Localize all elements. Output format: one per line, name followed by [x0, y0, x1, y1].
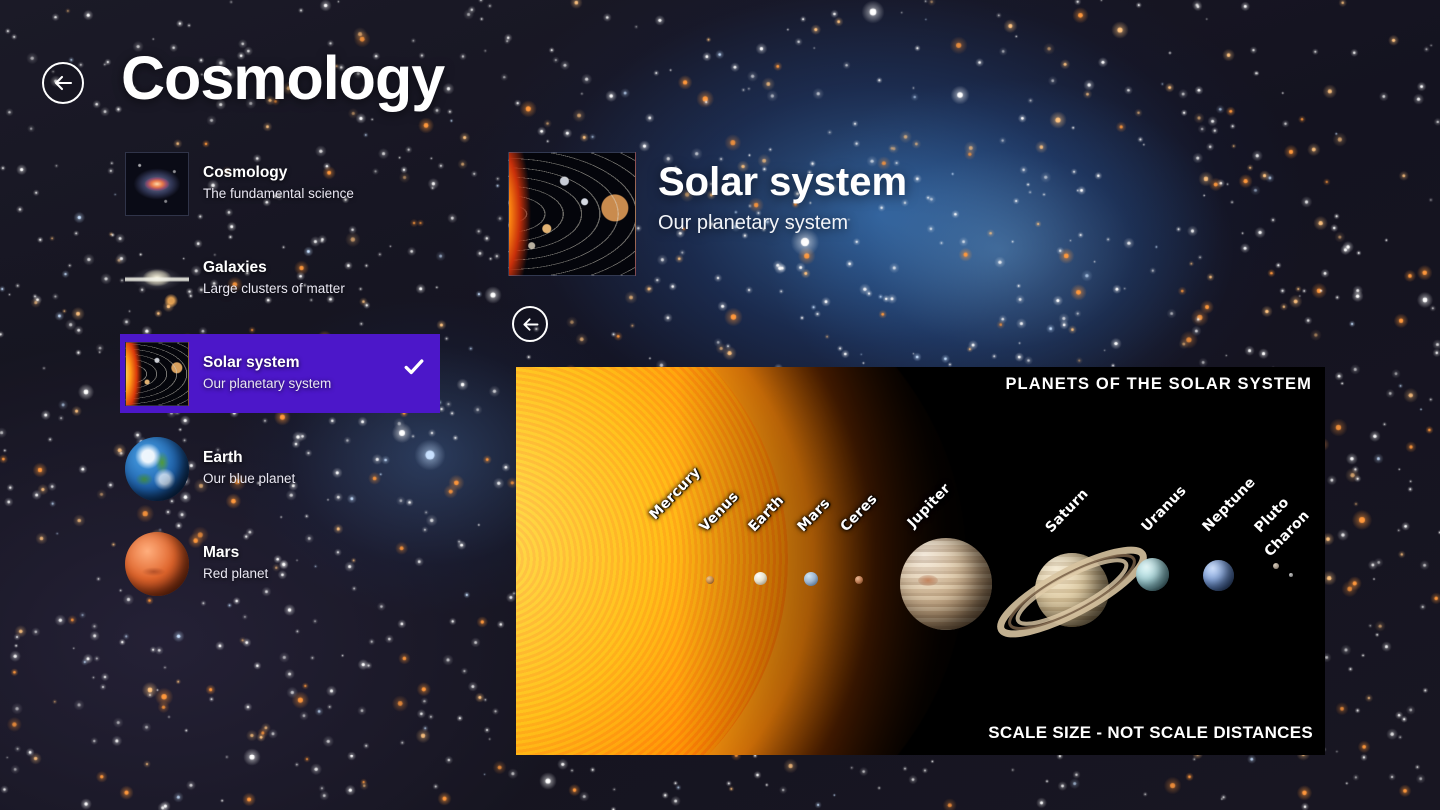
- detail-title: Solar system: [658, 160, 907, 204]
- list-item-title: Cosmology: [203, 163, 354, 184]
- list-item-subtitle: Large clusters of matter: [203, 279, 345, 299]
- earth-thumb: [125, 437, 189, 501]
- back-button[interactable]: [42, 62, 84, 104]
- list-item-title: Mars: [203, 543, 268, 564]
- arrow-left-icon: [51, 71, 75, 95]
- list-item-title: Earth: [203, 448, 295, 469]
- page-title: Cosmology: [121, 48, 444, 109]
- arrow-left-icon: [520, 314, 541, 335]
- list-item-galaxies[interactable]: Galaxies Large clusters of matter: [120, 239, 440, 318]
- list-item-subtitle: Our blue planet: [203, 469, 295, 489]
- planet-uranus: [1136, 558, 1169, 591]
- list-item-subtitle: The fundamental science: [203, 184, 354, 204]
- figure-caption-bottom: SCALE SIZE - NOT SCALE DISTANCES: [988, 723, 1313, 743]
- list-item-title: Solar system: [203, 353, 331, 374]
- list-item-cosmology[interactable]: Cosmology The fundamental science: [120, 144, 440, 223]
- jupiter-great-red-spot: [918, 575, 938, 586]
- detail-back-button[interactable]: [512, 306, 548, 342]
- figure-caption-top: PLANETS OF THE SOLAR SYSTEM: [1005, 375, 1312, 394]
- moon-charon: [1289, 573, 1293, 577]
- list-item-solar-system[interactable]: Solar system Our planetary system: [120, 334, 440, 413]
- mars-thumb: [125, 532, 189, 596]
- planets-figure[interactable]: Mercury Venus Earth Mars Ceres Jupiter S…: [516, 367, 1325, 755]
- galaxy-sombrero-thumb: [125, 247, 189, 311]
- planet-venus: [754, 572, 767, 585]
- planet-mars: [855, 576, 863, 584]
- list-item-mars[interactable]: Mars Red planet: [120, 524, 440, 603]
- solar-system-thumb: [508, 152, 636, 276]
- list-item-subtitle: Red planet: [203, 564, 268, 584]
- dwarf-planet-pluto: [1273, 563, 1279, 569]
- planet-earth: [804, 572, 818, 586]
- solar-system-thumb: [125, 342, 189, 406]
- check-icon: [403, 356, 425, 378]
- planet-mercury: [706, 576, 714, 584]
- galaxy-spiral-thumb: [125, 152, 189, 216]
- list-item-subtitle: Our planetary system: [203, 374, 331, 394]
- planet-jupiter: [900, 538, 992, 630]
- planet-neptune: [1203, 560, 1234, 591]
- list-item-earth[interactable]: Earth Our blue planet: [120, 429, 440, 508]
- detail-subtitle: Our planetary system: [658, 212, 848, 235]
- page-header: Cosmology: [0, 0, 1440, 140]
- topic-list: Cosmology The fundamental science Galaxi…: [120, 144, 440, 619]
- list-item-title: Galaxies: [203, 258, 345, 279]
- saturn-rings: [989, 517, 1155, 667]
